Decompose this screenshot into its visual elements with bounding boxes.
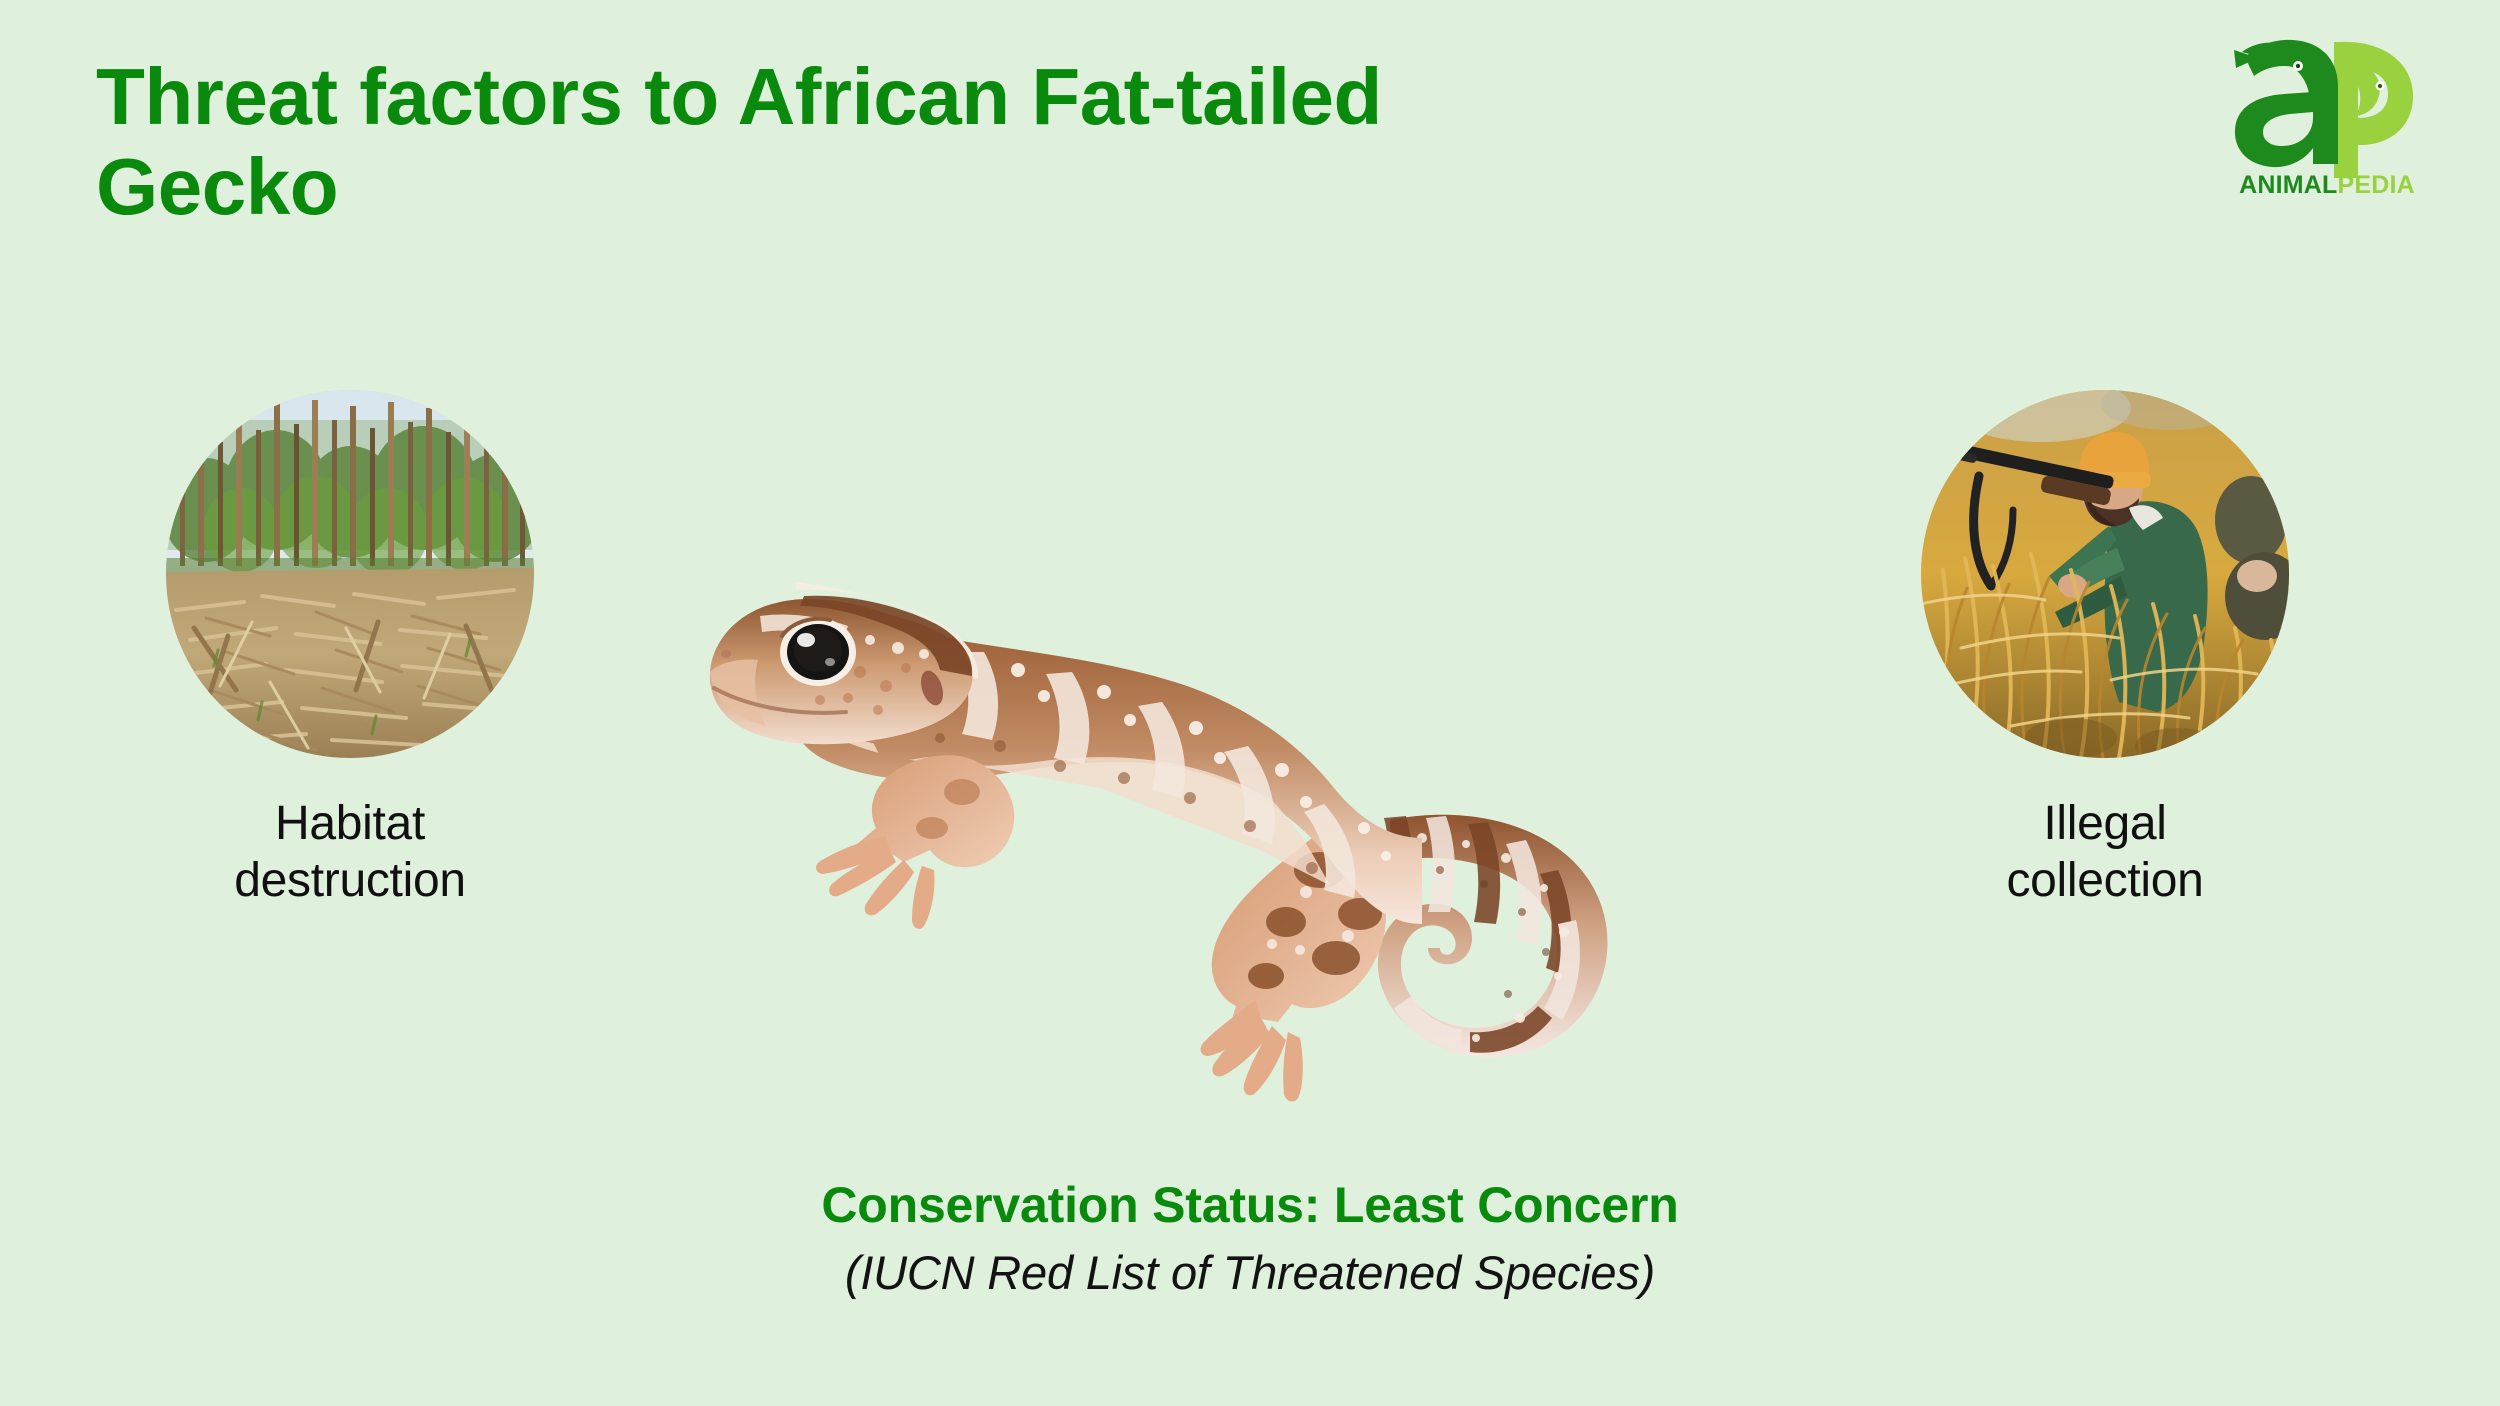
threat-label-line-1: Habitat bbox=[130, 796, 570, 853]
hunter-with-rifle-photo bbox=[1921, 390, 2289, 758]
logo-wordmark: ANIMALPEDIA bbox=[2212, 171, 2442, 200]
threat-label-illegal-collection: Illegal collection bbox=[1885, 796, 2325, 909]
threat-item-habitat-destruction: Habitat destruction bbox=[130, 390, 570, 909]
threat-item-illegal-collection: Illegal collection bbox=[1885, 390, 2325, 909]
page-title-line-2: Gecko bbox=[96, 142, 2086, 232]
footer-block: Conservation Status: Least Concern (IUCN… bbox=[0, 1178, 2500, 1299]
threat-label-habitat-destruction: Habitat destruction bbox=[130, 796, 570, 909]
conservation-source: (IUCN Red List of Threatened Species) bbox=[0, 1247, 2500, 1299]
threat-label-line-2: collection bbox=[1885, 853, 2325, 910]
deforestation-clearcut-photo bbox=[166, 390, 534, 758]
conservation-status: Conservation Status: Least Concern bbox=[0, 1178, 2500, 1233]
animalpedia-logo[interactable]: ANIMALPEDIA bbox=[2212, 28, 2442, 223]
logo-wordmark-animal: ANIMAL bbox=[2239, 171, 2337, 199]
page-title-line-1: Threat factors to African Fat-tailed bbox=[96, 52, 2086, 142]
logo-wordmark-pedia: PEDIA bbox=[2338, 171, 2415, 199]
threat-label-line-1: Illegal bbox=[1885, 796, 2325, 853]
page-title: Threat factors to African Fat-tailed Gec… bbox=[96, 52, 2086, 231]
african-fat-tailed-gecko-photo bbox=[700, 520, 1860, 1140]
animalpedia-parrot-logo-icon bbox=[2212, 28, 2442, 178]
threat-label-line-2: destruction bbox=[130, 853, 570, 910]
infographic-canvas: Threat factors to African Fat-tailed Gec… bbox=[0, 0, 2500, 1406]
